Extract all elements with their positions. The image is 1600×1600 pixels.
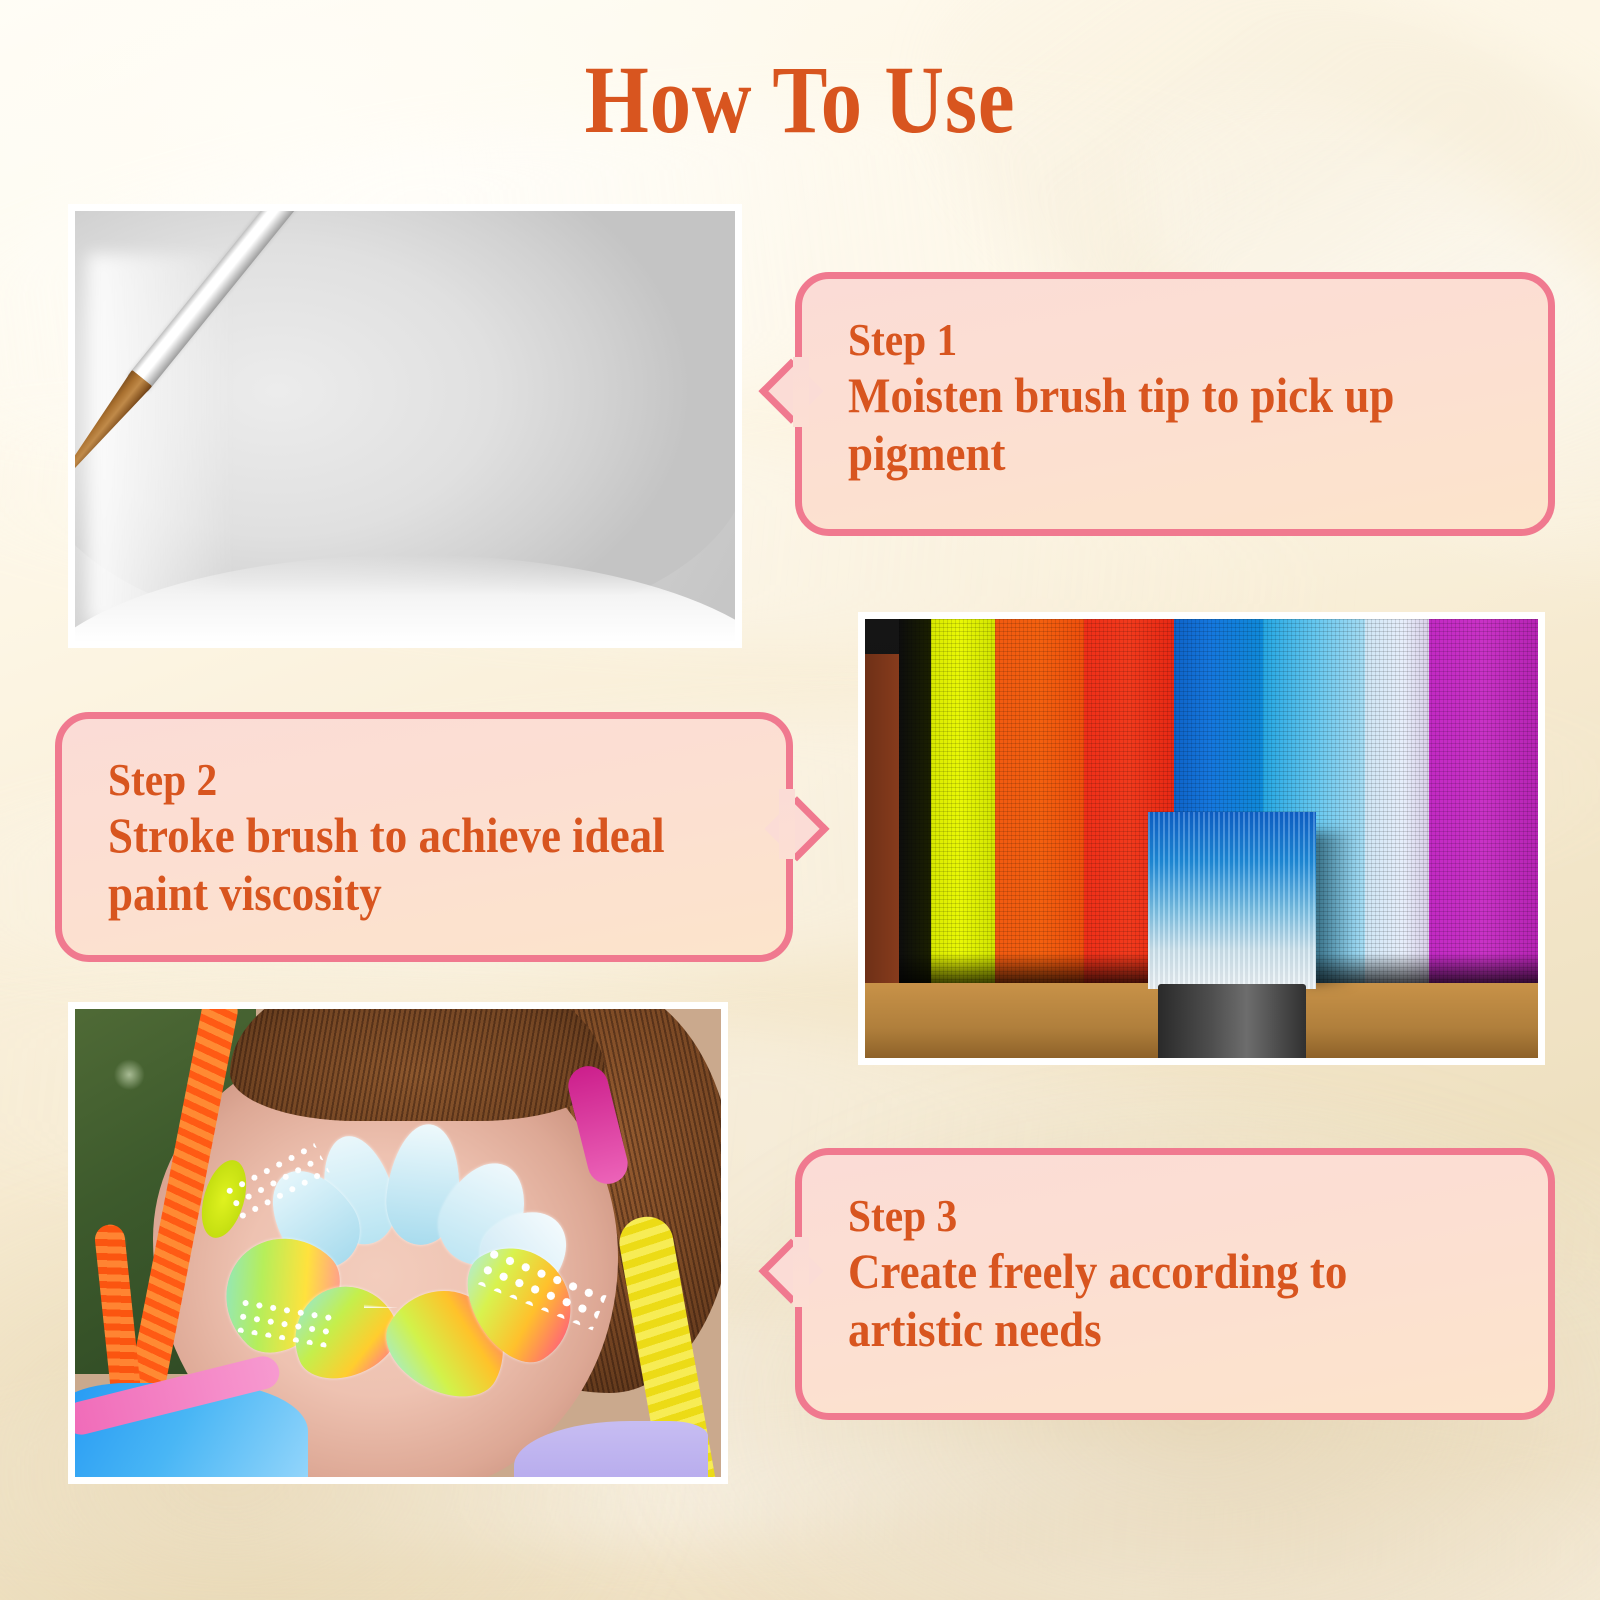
flower-centre-rays bbox=[364, 1208, 436, 1308]
step-2-callout: Step 2 Stroke brush to achieve ideal pai… bbox=[55, 712, 793, 962]
step-1-label: Step 1 bbox=[848, 313, 1440, 366]
how-to-use-infographic: How To Use bbox=[0, 0, 1600, 1600]
step-3-label: Step 3 bbox=[848, 1189, 1440, 1242]
step-2-body: Stroke brush to achieve ideal paint visc… bbox=[108, 806, 680, 922]
rainbow-palette-photo bbox=[858, 612, 1545, 1065]
step-2-tail-cover bbox=[779, 789, 795, 859]
page-title: How To Use bbox=[112, 52, 1488, 148]
step-1-tail-cover bbox=[793, 357, 809, 427]
painted-face-photo bbox=[68, 1002, 728, 1484]
step-1-callout: Step 1 Moisten brush tip to pick up pigm… bbox=[795, 272, 1555, 536]
hair-top bbox=[230, 1009, 605, 1121]
step-3-tail-cover bbox=[793, 1237, 809, 1307]
step-3-body: Create freely according to artistic need… bbox=[848, 1242, 1440, 1358]
step-2-label: Step 2 bbox=[108, 753, 680, 806]
flat-brush bbox=[1148, 812, 1316, 1058]
flat-brush-bristles bbox=[1148, 812, 1316, 989]
step-3-callout: Step 3 Create freely according to artist… bbox=[795, 1148, 1555, 1420]
step-1-body: Moisten brush tip to pick up pigment bbox=[848, 366, 1440, 482]
brush-tip-in-white-paint-photo bbox=[68, 204, 742, 648]
flat-brush-ferrule bbox=[1158, 984, 1306, 1058]
